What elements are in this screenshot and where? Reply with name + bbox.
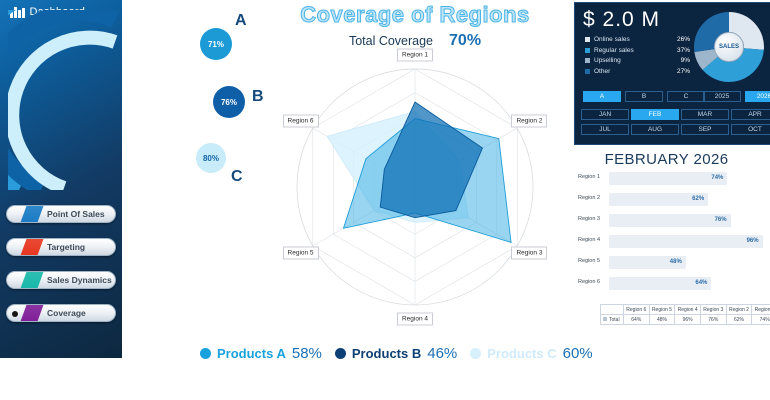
badge-c-letter: C (231, 168, 243, 186)
legend-swatch-icon (585, 37, 590, 42)
radar-axis-label: Region 1 (397, 48, 433, 61)
table-header: Region 4 (675, 305, 701, 315)
table-header: Region 3 (700, 305, 726, 315)
region-bar-panel: FEBRUARY 2026 Region 174%Region 262%Regi… (574, 148, 770, 338)
bar-row: Region 548% (578, 256, 770, 269)
year-chip-2026[interactable]: 2026 (745, 91, 770, 102)
breakdown-value: 27% (677, 68, 690, 75)
sidebar-item-coverage[interactable]: Coverage (6, 304, 116, 322)
breakdown-label: Online sales (594, 36, 677, 43)
radar-axis-label: Region 3 (511, 247, 547, 260)
radar-axis-label: Region 6 (283, 114, 319, 127)
bar-track: 48% (609, 256, 686, 269)
group-chip-b[interactable]: B (625, 91, 663, 102)
table-cell: 96% (675, 315, 701, 325)
table-cell: 64% (623, 315, 649, 325)
radar-chart-title: Coverage of Regions (255, 2, 575, 28)
legend-item-products-c[interactable]: Products C 60% (470, 345, 592, 362)
accent-slash-icon (18, 304, 45, 322)
sidebar-item-label: Point Of Sales (47, 209, 105, 219)
badge-a-letter: A (235, 12, 247, 30)
region-total-table: Region 6Region 5Region 4Region 3Region 2… (600, 304, 770, 325)
sales-donut-chart: SALES (693, 11, 765, 83)
breakdown-value: 37% (677, 47, 690, 54)
total-coverage-value: 70% (449, 32, 481, 50)
bar-value-label: 96% (747, 238, 759, 244)
sidebar-nav: Point Of Sales Targeting Sales Dynamics … (6, 205, 116, 337)
sidebar-item-label: Sales Dynamics (47, 275, 112, 285)
table-cell: 74% (752, 315, 770, 325)
month-chip-mar[interactable]: MAR (681, 109, 729, 120)
group-chip-c[interactable]: C (667, 91, 705, 102)
sidebar-item-point-of-sales[interactable]: Point Of Sales (6, 205, 116, 223)
year-chip-2025[interactable]: 2025 (703, 91, 741, 102)
table-cell: 76% (700, 315, 726, 325)
sidebar-item-label: Coverage (47, 308, 86, 318)
radar-axis-label: Region 5 (283, 247, 319, 260)
legend-item-products-b[interactable]: Products B 46% (335, 345, 457, 362)
accent-slash-icon (18, 238, 45, 256)
bar-value-label: 48% (670, 259, 682, 265)
sidebar: Dashboard Point Of Sales Targeting Sales… (0, 0, 122, 358)
total-coverage-label: Total Coverage (349, 34, 433, 48)
legend-value: 60% (563, 345, 593, 362)
bar-track: 76% (609, 214, 731, 227)
sidebar-item-targeting[interactable]: Targeting (6, 238, 116, 256)
month-chip-apr[interactable]: APR (731, 109, 770, 120)
month-chip-aug[interactable]: AUG (631, 124, 679, 135)
table-cell: 48% (649, 315, 675, 325)
total-coverage: Total Coverage 70% (255, 32, 575, 50)
breakdown-label: Upselling (594, 57, 681, 64)
legend-swatch-icon (585, 58, 590, 63)
bar-row: Region 664% (578, 277, 770, 290)
table-header: Region 5 (649, 305, 675, 315)
legend-swatch-icon (470, 348, 481, 359)
dashboard-root: Dashboard Point Of Sales Targeting Sales… (0, 0, 770, 400)
bar-category-label: Region 1 (578, 174, 606, 180)
sales-panel: $ 2.0 M Online sales26%Regular sales37%U… (574, 2, 770, 145)
table-header: Region 1 (752, 305, 770, 315)
table-corner (601, 305, 624, 315)
accent-slash-icon (18, 205, 45, 223)
legend-label: Products B (352, 346, 421, 361)
badge-b-value: 76% (213, 86, 245, 118)
month-chip-jan[interactable]: JAN (581, 109, 629, 120)
breakdown-value: 26% (677, 36, 690, 43)
month-chip-oct[interactable]: OCT (731, 124, 770, 135)
badge-a-value: 71% (200, 28, 232, 60)
legend-value: 58% (292, 345, 322, 362)
radar-axis-label: Region 4 (397, 313, 433, 326)
legend-swatch-icon (335, 348, 346, 359)
legend-item-products-a[interactable]: Products A 58% (200, 345, 322, 362)
bar-track: 74% (609, 172, 727, 185)
bar-panel-title: FEBRUARY 2026 (574, 151, 759, 168)
sales-breakdown-row: Online sales26% (585, 36, 690, 43)
bar-category-label: Region 3 (578, 216, 606, 222)
legend-label: Products A (217, 346, 286, 361)
bar-row: Region 174% (578, 172, 770, 185)
bar-row: Region 262% (578, 193, 770, 206)
donut-segment (704, 51, 710, 64)
sales-breakdown-row: Other27% (585, 68, 690, 75)
table-cell: 62% (726, 315, 752, 325)
bar-category-label: Region 6 (578, 279, 606, 285)
bar-category-label: Region 4 (578, 237, 606, 243)
sales-amount: $ 2.0 M (583, 8, 660, 32)
breakdown-label: Regular sales (594, 47, 677, 54)
table-row-label: Total (601, 315, 624, 325)
sidebar-item-sales-dynamics[interactable]: Sales Dynamics (6, 271, 116, 289)
radar-legend: Products A 58% Products B 46% Products C… (200, 345, 600, 362)
breakdown-label: Other (594, 68, 677, 75)
group-chip-a[interactable]: A (583, 91, 621, 102)
bar-row: Region 496% (578, 235, 770, 248)
accent-slash-icon (18, 271, 45, 289)
bar-value-label: 62% (692, 196, 704, 202)
bar-row: Region 376% (578, 214, 770, 227)
bar-track: 96% (609, 235, 763, 248)
legend-swatch-icon (585, 69, 590, 74)
bar-value-label: 64% (695, 280, 707, 286)
decorative-arcs (8, 10, 122, 190)
sales-breakdown-legend: Online sales26%Regular sales37%Upselling… (585, 36, 690, 78)
bar-track: 62% (609, 193, 708, 206)
legend-swatch-icon (200, 348, 211, 359)
legend-value: 46% (427, 345, 457, 362)
legend-swatch-icon (585, 48, 590, 53)
bar-value-label: 74% (711, 175, 723, 181)
badge-c-value: 80% (196, 143, 226, 173)
sales-breakdown-row: Upselling9% (585, 57, 690, 64)
bar-category-label: Region 5 (578, 258, 606, 264)
radar-axis-label: Region 2 (511, 114, 547, 127)
radar-chart: Region 1Region 2Region 3Region 4Region 5… (250, 52, 580, 342)
bar-track: 64% (609, 277, 711, 290)
legend-label: Products C (487, 346, 556, 361)
table-header: Region 2 (726, 305, 752, 315)
month-chip-jul[interactable]: JUL (581, 124, 629, 135)
bar-value-label: 76% (715, 217, 727, 223)
breakdown-value: 9% (681, 57, 690, 64)
sales-breakdown-row: Regular sales37% (585, 47, 690, 54)
sidebar-item-label: Targeting (47, 242, 85, 252)
donut-center-label: SALES (714, 32, 744, 62)
active-indicator-icon (12, 311, 18, 317)
bar-category-label: Region 2 (578, 195, 606, 201)
month-chip-feb[interactable]: FEB (631, 109, 679, 120)
month-chip-sep[interactable]: SEP (681, 124, 729, 135)
table-header: Region 6 (623, 305, 649, 315)
